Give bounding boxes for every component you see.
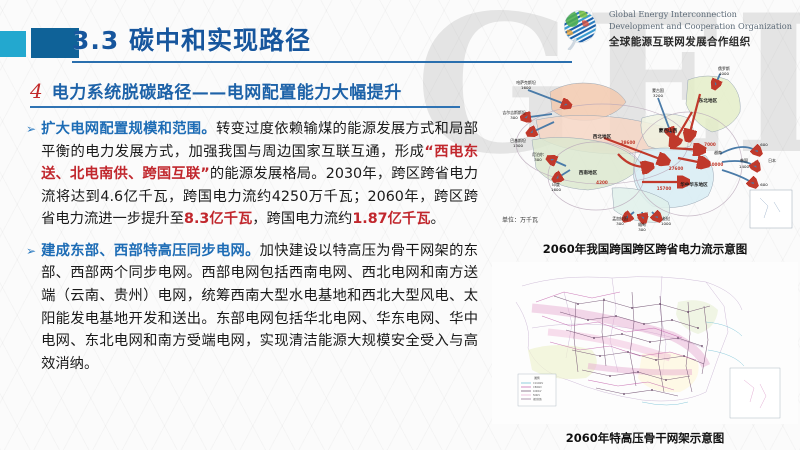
svg-text:规划线路: 规划线路	[533, 397, 543, 401]
uhv-backbone-map: 图例 ±1100kV ±800kV 1000kV 500kV 规划线路	[492, 262, 798, 424]
body-content: ➢ 扩大电网配置规模和范围。转变过度依赖输煤的能源发展方式和局部平衡的电力发展方…	[26, 118, 478, 384]
p1-seg-3: 8.3亿千瓦	[184, 211, 252, 227]
node-india-value: 1600	[551, 187, 561, 192]
p1-seg-4: ，跨国电力流约	[252, 211, 352, 227]
map-region-central-east: 华中华东地区	[680, 181, 708, 188]
svg-text:500kV: 500kV	[533, 394, 540, 397]
legend-title: 图例	[534, 376, 540, 380]
page-title: 3.3 碳中和实现路径	[72, 21, 311, 57]
organization-logo: Global Energy Interconnection Developmen…	[560, 8, 792, 50]
globe-logo-icon	[560, 8, 602, 50]
svg-text:1000kV: 1000kV	[533, 390, 542, 393]
node-laos-value: 1000	[661, 221, 671, 226]
node-mongolia-value: 3200	[653, 93, 663, 98]
flow-value-4200: 4200	[596, 180, 608, 185]
node-pakistan-value: 1300	[513, 143, 523, 148]
p2-seg-0: 加快建设以特高压为骨干网架的东部、西部两个同步电网。西部电网包括西南电网、西北电…	[41, 243, 478, 372]
figure-caption-uhv-backbone: 2060年特高压骨干网架示意图	[492, 430, 798, 446]
map-region-northwest: 西北地区	[593, 133, 612, 140]
node-korea-600a: 600	[760, 142, 768, 147]
slide-canvas: GEIDCO 3.3 碳中和实现路径	[0, 0, 800, 450]
paragraph-1-lead: 扩大电网配置规模和范围。	[41, 121, 216, 137]
flow-value-27600: 27600	[669, 166, 684, 171]
node-russia-value: 4000	[719, 71, 729, 76]
map-region-northeast: 东北地区	[699, 97, 718, 104]
logo-cn-name: 全球能源互联网发展合作组织	[609, 34, 792, 49]
svg-text:±800kV: ±800kV	[533, 386, 542, 389]
flow-value-28600: 28600	[621, 140, 636, 145]
node-nepal-value: 300	[534, 157, 542, 162]
subheading-text: 电力系统脱碳路径——电网配置能力大幅提升	[52, 78, 402, 103]
subheading-number: 4	[30, 79, 43, 103]
logo-en-line2: Development and Cooperation Organization	[609, 21, 792, 32]
flow-value-7000: 7000	[704, 142, 716, 147]
figure-caption-power-flow: 2060年我国跨国跨区跨省电力流示意图	[492, 241, 798, 257]
node-myanmar-value: 300	[638, 227, 646, 232]
paragraph-2-lead: 建成东部、西部特高压同步电网。	[41, 243, 260, 259]
node-kazakhstan-value: 1600	[521, 85, 531, 90]
node-bangladesh-value: 300	[616, 221, 624, 226]
p1-seg-6: 。	[431, 211, 445, 227]
flow-value-15700: 15700	[657, 186, 672, 191]
bullet-icon: ➢	[26, 118, 36, 231]
map-region-north: 蒙西山西	[659, 127, 678, 134]
bullet-icon: ➢	[26, 240, 36, 375]
logo-en-line1: Global Energy Interconnection	[609, 9, 792, 20]
p1-seg-5: 1.87亿千瓦	[352, 211, 430, 227]
flow-value-10000: 10000	[709, 162, 724, 167]
paragraph-2-text: 建成东部、西部特高压同步电网。加快建设以特高压为骨干网架的东部、西部两个同步电网…	[41, 240, 478, 375]
subheading-underline	[30, 106, 460, 108]
node-vietnam: 越南	[714, 150, 722, 155]
paragraph-1-text: 扩大电网配置规模和范围。转变过度依赖输煤的能源发展方式和局部平衡的电力发展方式，…	[41, 118, 478, 231]
map-legend: 图例 ±1100kV ±800kV 1000kV 500kV 规划线路	[518, 374, 556, 406]
svg-text:±1100kV: ±1100kV	[533, 382, 544, 385]
paragraph-1: ➢ 扩大电网配置规模和范围。转变过度依赖输煤的能源发展方式和局部平衡的电力发展方…	[26, 118, 478, 231]
node-japan: 日本	[768, 158, 776, 163]
logo-text: Global Energy Interconnection Developmen…	[609, 9, 792, 49]
map-inset-box	[750, 190, 792, 228]
power-flow-map: 东北地区 蒙西山西 西北地区 西南地区 华中华东地区 28600 27600 1…	[492, 62, 798, 234]
node-korea-value: 1400	[739, 164, 749, 169]
node-japan-value: 600	[760, 182, 768, 187]
paragraph-2: ➢ 建成东部、西部特高压同步电网。加快建设以特高压为骨干网架的东部、西部两个同步…	[26, 240, 478, 375]
map-inset-southsea	[730, 368, 780, 418]
header-accent-block-light	[0, 31, 26, 57]
section-subheading: 4 电力系统脱碳路径——电网配置能力大幅提升	[30, 78, 402, 103]
map-region-southwest: 西南地区	[579, 169, 598, 176]
node-kyrgyzstan-value: 300	[510, 115, 518, 120]
node-korea: 韩国	[740, 158, 748, 163]
map-unit-label: 单位：万千瓦	[502, 215, 538, 224]
